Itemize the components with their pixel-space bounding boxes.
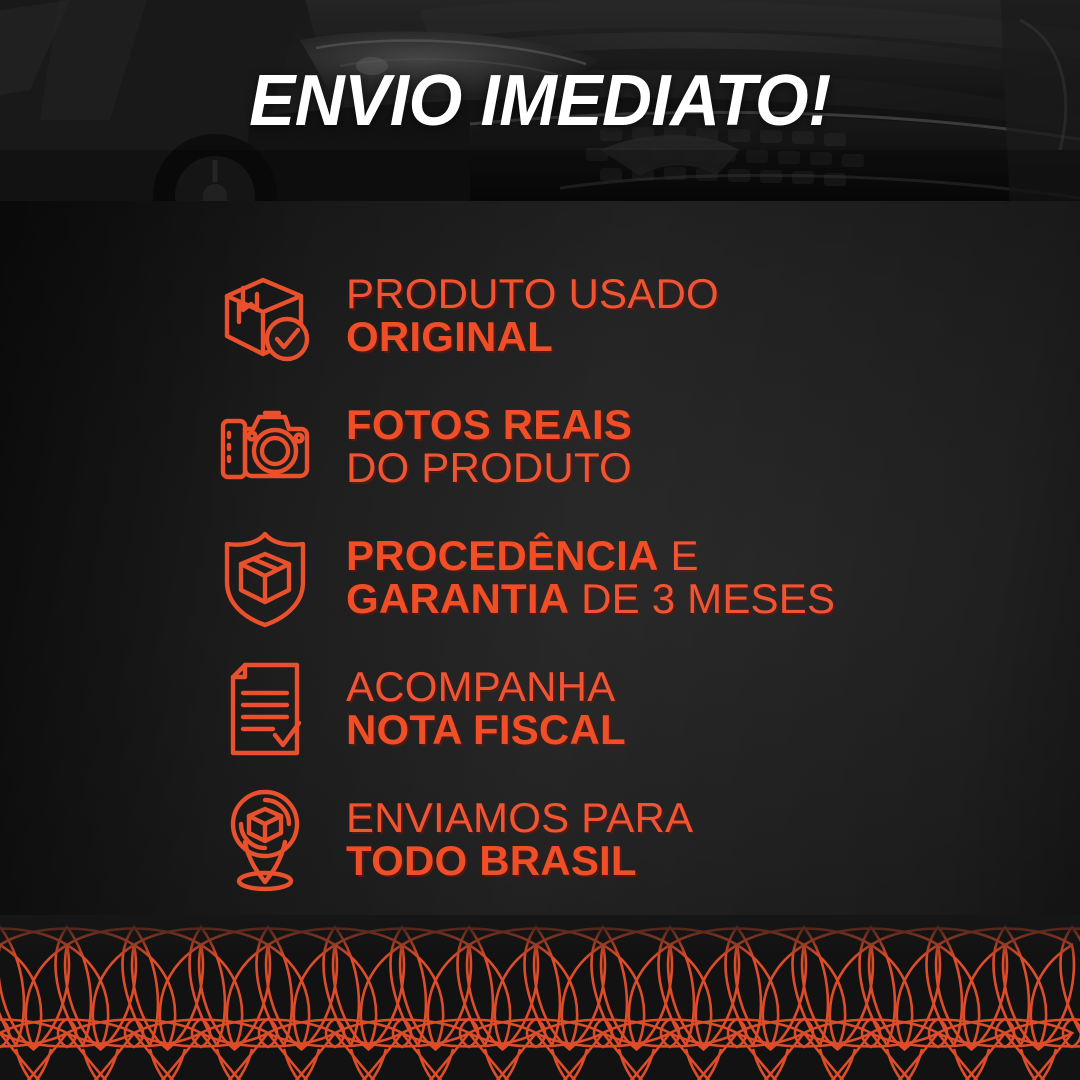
footer-pattern	[0, 915, 1080, 1080]
feature-line-1: FOTOS REAIS	[346, 404, 632, 447]
feature-line-1-bold: PROCEDÊNCIA	[346, 532, 659, 579]
feature-line-2: GARANTIA DE 3 MESES	[346, 578, 835, 621]
feature-text-nota-fiscal: ACOMPANHA NOTA FISCAL	[324, 666, 626, 752]
camera-icon	[206, 399, 324, 495]
feature-line-2: ORIGINAL	[346, 316, 719, 359]
invoice-document-icon	[206, 657, 324, 761]
feature-item-procedencia-garantia: PROCEDÊNCIA E GARANTIA DE 3 MESES	[206, 512, 1066, 643]
feature-text-todo-brasil: ENVIAMOS PARA TODO BRASIL	[324, 797, 693, 883]
feature-item-produto-original: PRODUTO USADO ORIGINAL	[206, 250, 1066, 381]
box-check-icon	[206, 266, 324, 366]
feature-item-fotos-reais: FOTOS REAIS DO PRODUTO	[206, 381, 1066, 512]
feature-item-todo-brasil: ENVIAMOS PARA TODO BRASIL	[206, 774, 1066, 905]
header-title: ENVIO IMEDIATO!	[0, 0, 1080, 201]
feature-line-1: ENVIAMOS PARA	[346, 797, 693, 840]
feature-line-2: NOTA FISCAL	[346, 709, 626, 752]
header-hero: ENVIO IMEDIATO!	[0, 0, 1080, 201]
feature-line-1: ACOMPANHA	[346, 666, 626, 709]
feature-text-fotos-reais: FOTOS REAIS DO PRODUTO	[324, 404, 632, 490]
feature-list: PRODUTO USADO ORIGINAL	[206, 250, 1066, 905]
feature-line-2: DO PRODUTO	[346, 447, 632, 490]
feature-item-nota-fiscal: ACOMPANHA NOTA FISCAL	[206, 643, 1066, 774]
feature-line-1: PROCEDÊNCIA E	[346, 535, 835, 578]
promotional-banner: ENVIO IMEDIATO!	[0, 0, 1080, 1080]
feature-text-procedencia-garantia: PROCEDÊNCIA E GARANTIA DE 3 MESES	[324, 535, 835, 621]
feature-line-1-regular: E	[659, 532, 699, 579]
petal-lattice-graphic	[0, 915, 1080, 1080]
map-pin-box-icon	[206, 786, 324, 894]
feature-line-2: TODO BRASIL	[346, 840, 693, 883]
feature-text-produto-original: PRODUTO USADO ORIGINAL	[324, 273, 719, 359]
feature-line-2-bold: GARANTIA	[346, 575, 569, 622]
feature-line-2-regular: DE 3 MESES	[569, 575, 835, 622]
header-title-text: ENVIO IMEDIATO!	[249, 65, 831, 137]
shield-box-icon	[206, 526, 324, 630]
feature-line-1: PRODUTO USADO	[346, 273, 719, 316]
